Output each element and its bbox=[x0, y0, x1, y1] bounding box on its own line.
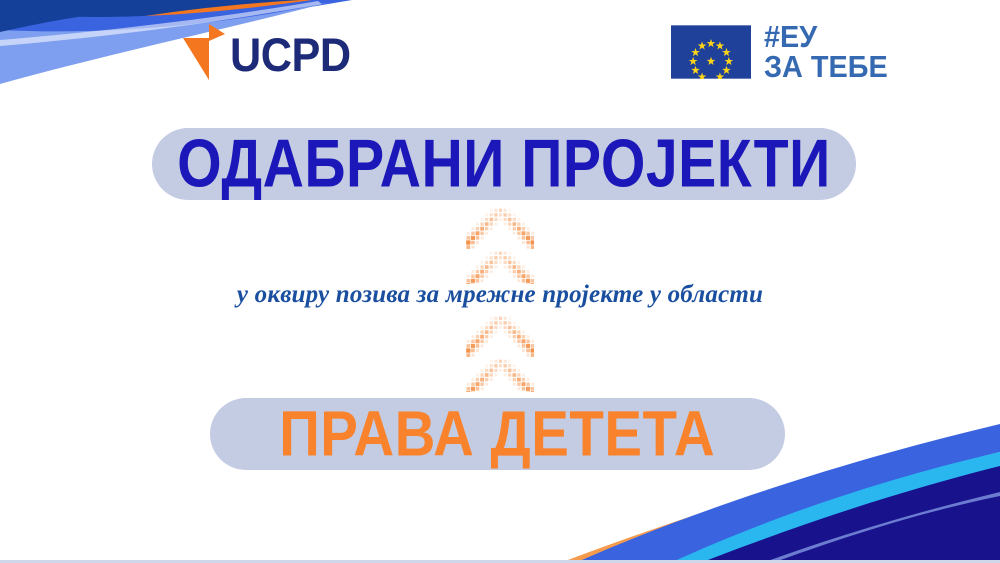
chevron-group-bottom bbox=[466, 316, 534, 392]
promo-banner: UCPD bbox=[0, 0, 1000, 563]
ucpd-logo: UCPD bbox=[183, 22, 361, 82]
eu-slogan-line1: #ЕУ bbox=[764, 22, 888, 52]
chevron-group-top bbox=[466, 208, 534, 284]
eu-logo: #ЕУ ЗА ТЕБЕ bbox=[671, 22, 897, 82]
subtitle: у оквиру позива за мрежне пројекте у обл… bbox=[0, 281, 1000, 309]
logo-row: UCPD bbox=[0, 0, 1000, 100]
page-title: ОДАБРАНИ ПРОЈЕКТИ bbox=[177, 130, 831, 197]
subject-pill: ПРАВА ДЕТЕТА bbox=[210, 398, 785, 470]
ucpd-star-mark-icon bbox=[183, 24, 229, 80]
ucpd-wordmark: UCPD bbox=[230, 31, 351, 78]
eu-flag-icon bbox=[671, 25, 751, 79]
swoosh-hairline-bottom bbox=[762, 492, 1000, 563]
title-pill: ОДАБРАНИ ПРОЈЕКТИ bbox=[152, 128, 856, 200]
subject-title: ПРАВА ДЕТЕТА bbox=[280, 402, 716, 466]
eu-slogan-line2: ЗА ТЕБЕ bbox=[764, 52, 888, 82]
eu-slogan: #ЕУ ЗА ТЕБЕ bbox=[764, 22, 897, 82]
swoosh-deepnavy-bottom bbox=[700, 466, 1000, 563]
